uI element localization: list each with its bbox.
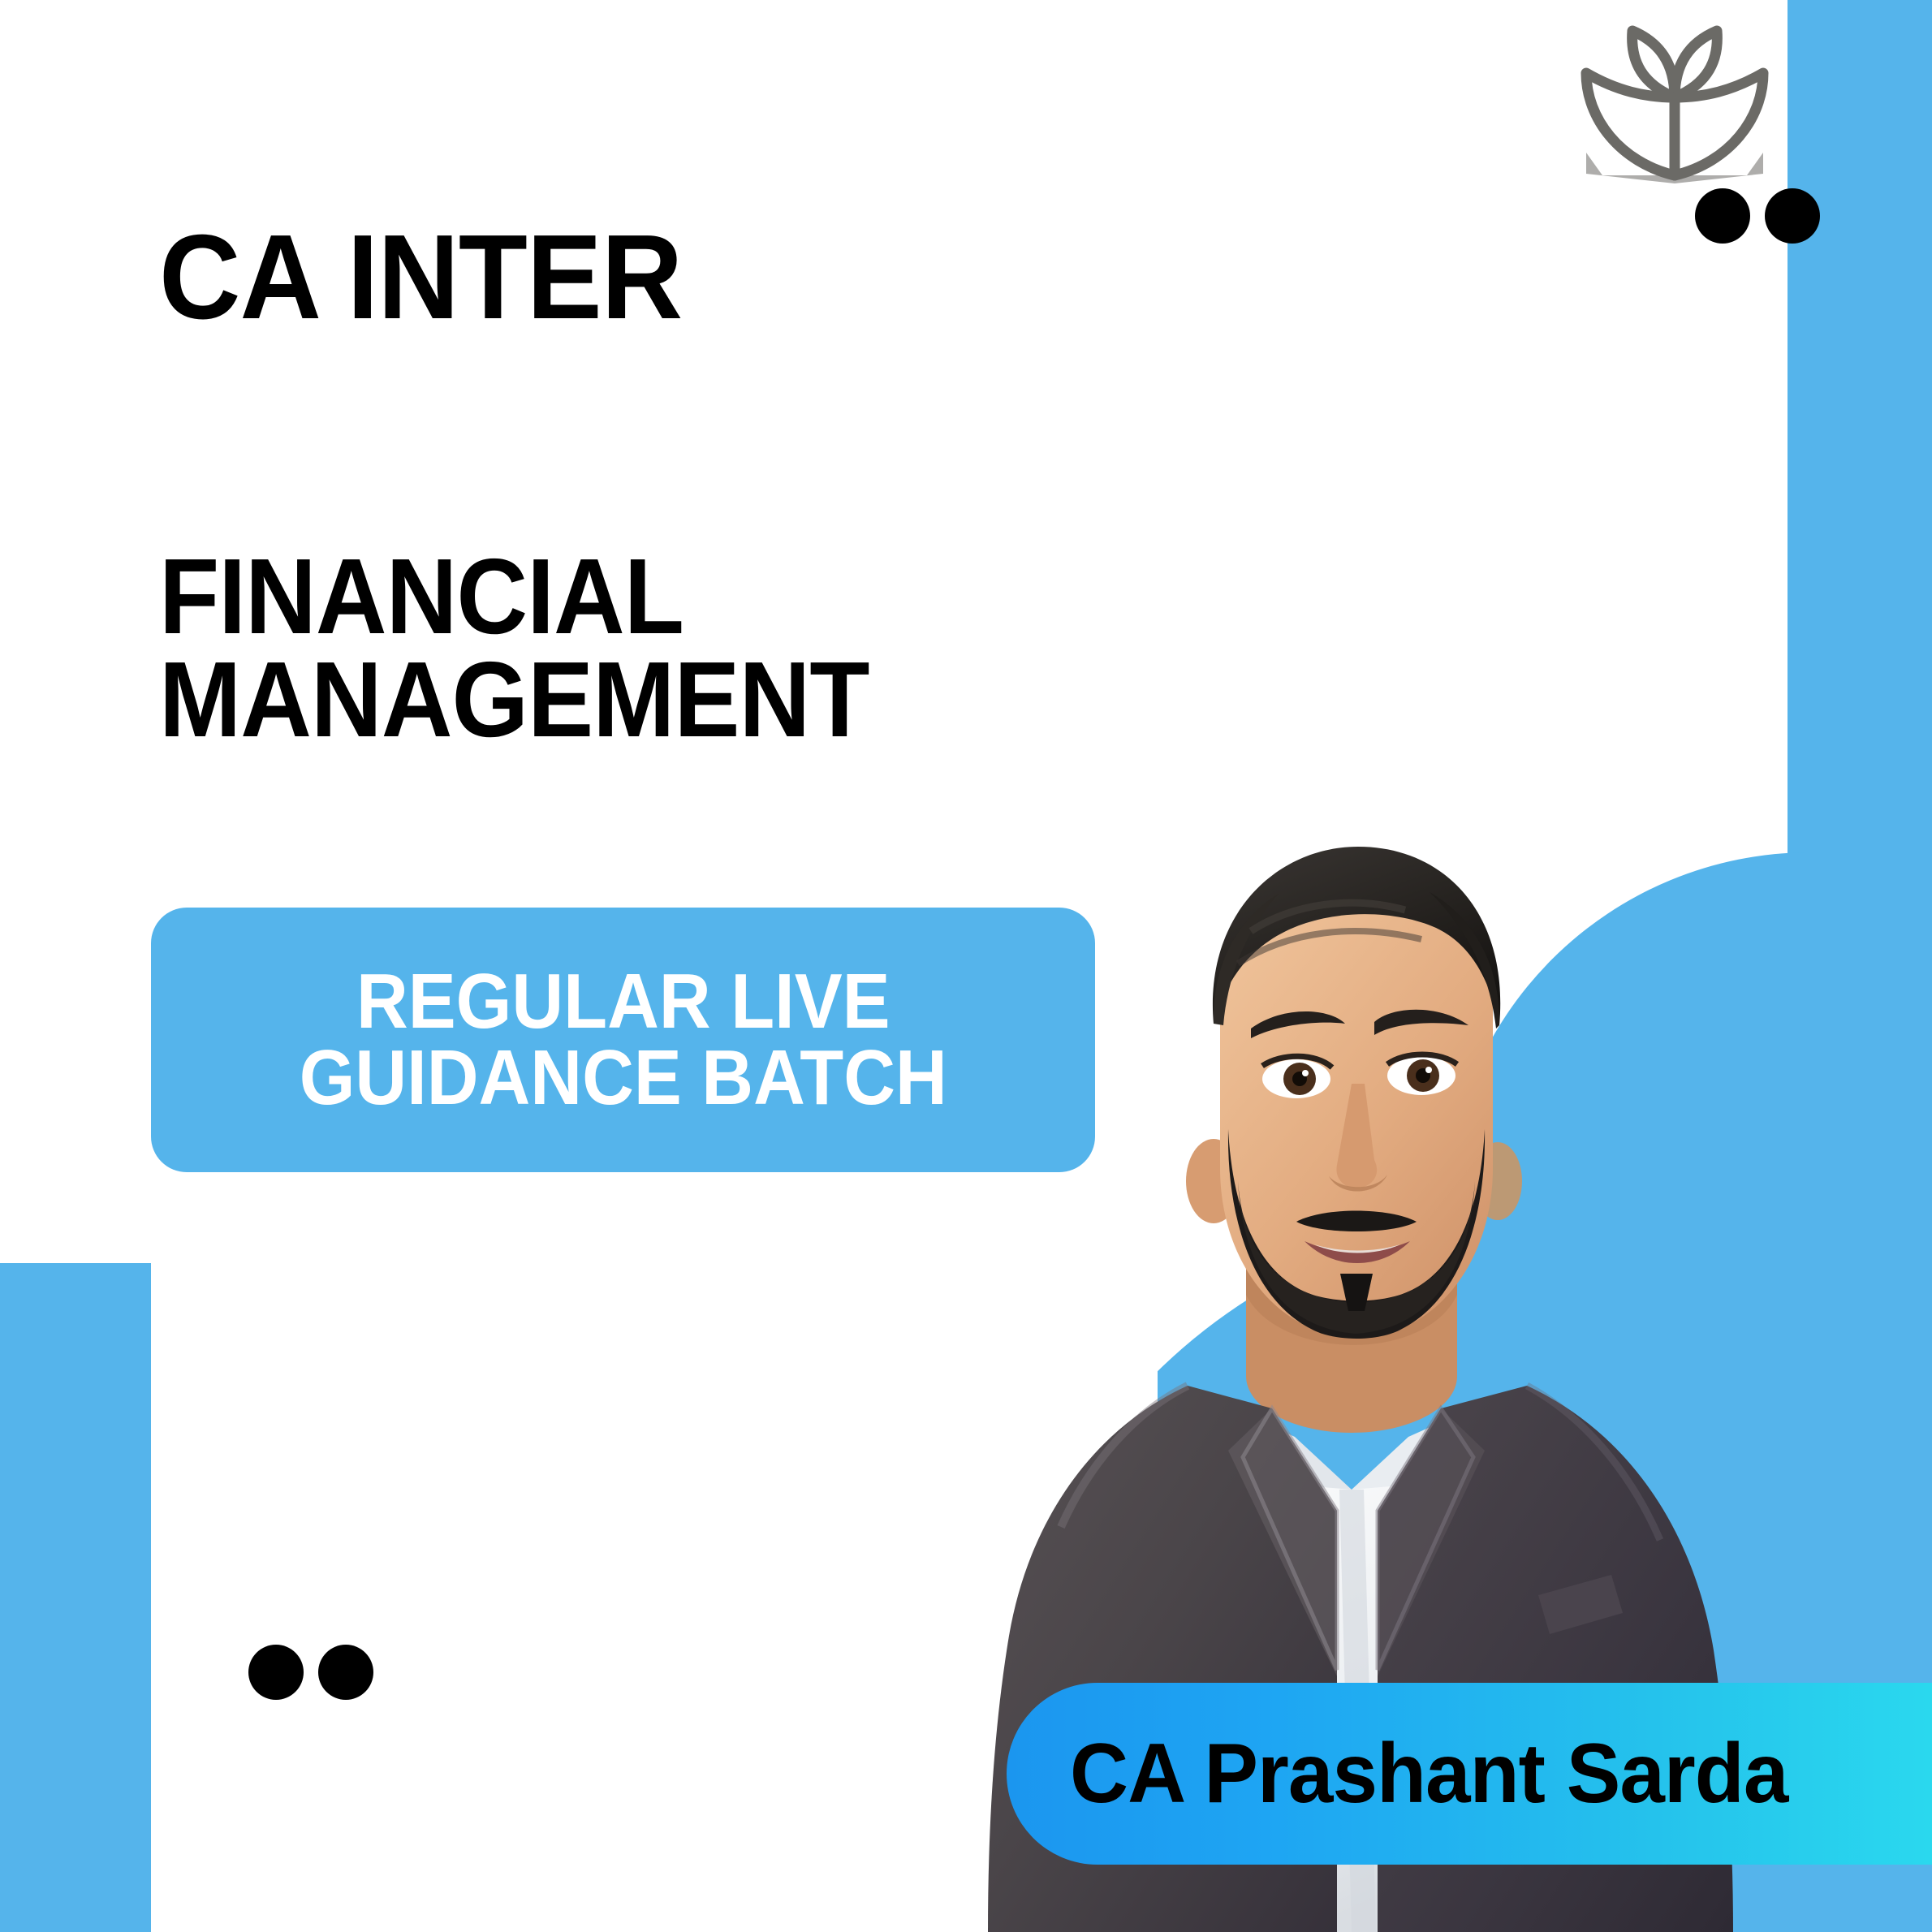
blue-top-right-column <box>1788 0 1932 916</box>
blue-left-bar <box>0 1263 151 1932</box>
instructor-name: CA Prashant Sarda <box>1070 1726 1788 1822</box>
instructor-name-banner: CA Prashant Sarda <box>1007 1683 1932 1865</box>
badge-line-2: GUIDANCE BATCH <box>299 1040 947 1116</box>
dot <box>1765 188 1820 244</box>
subject-title: FINANCIAL MANAGEMENT <box>159 546 869 751</box>
dot <box>1695 188 1750 244</box>
batch-type-badge-text: REGULAR LIVE GUIDANCE BATCH <box>299 964 947 1116</box>
batch-type-badge: REGULAR LIVE GUIDANCE BATCH <box>151 908 1095 1172</box>
course-poster: CA INTER FINANCIAL MANAGEMENT REGULAR LI… <box>0 0 1932 1932</box>
subject-line-1: FINANCIAL <box>159 546 869 649</box>
decorative-dots-top <box>1695 188 1820 244</box>
decorative-dots-bottom <box>248 1645 373 1700</box>
page-title: CA INTER <box>159 218 682 338</box>
subject-line-2: MANAGEMENT <box>159 649 869 752</box>
badge-line-1: REGULAR LIVE <box>299 964 947 1040</box>
lotus-book-logo-icon <box>1568 23 1781 187</box>
dot <box>248 1645 304 1700</box>
dot <box>318 1645 373 1700</box>
